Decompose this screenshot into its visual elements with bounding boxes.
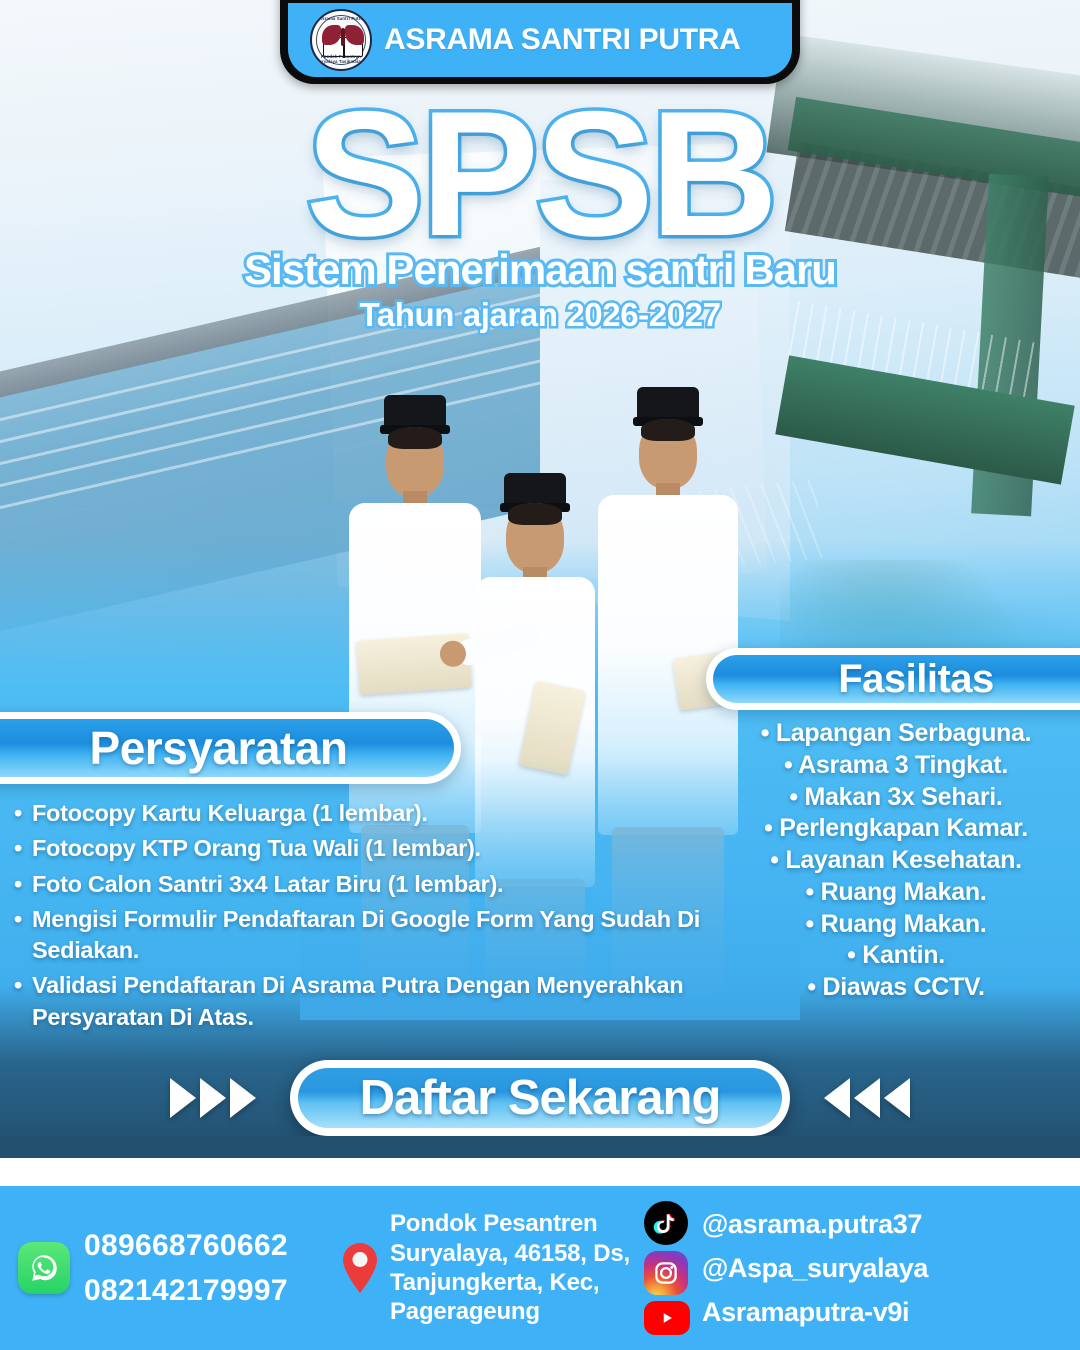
butterfly-body: [341, 28, 345, 46]
hero-subtitle: Sistem Penerimaan santri Baru: [0, 246, 1080, 294]
footer-bar: 089668760662 082142179997 Pondok Pesantr…: [0, 1186, 1080, 1350]
map-pin-icon: [340, 1242, 380, 1294]
footer-social-block: @asrama.putra37 @Aspa_suryalaya Asramapu…: [640, 1201, 1080, 1335]
address-text: Pondok Pesantren Suryalaya, 46158, Ds, T…: [390, 1209, 640, 1326]
phone-number-2[interactable]: 082142179997: [84, 1268, 288, 1313]
list-item: Mengisi Formulir Pendaftaran Di Google F…: [14, 904, 714, 967]
arrow-left-icon: [854, 1078, 880, 1118]
logo-bottom-text: Pondok Pesantren Suryalaya Tasikmalaya: [312, 54, 370, 64]
triple-arrow-left-icon: [824, 1078, 910, 1118]
list-item: Ruang Makan.: [722, 909, 1070, 941]
hero-academic-year: Tahun ajaran 2026-2027: [0, 296, 1080, 334]
requirements-banner-label: Persyaratan: [90, 721, 348, 775]
list-item: Diawas CCTV.: [722, 972, 1070, 1004]
youtube-handle[interactable]: Asramaputra-v9i: [702, 1290, 928, 1334]
requirements-item-text: Fotocopy Kartu Keluarga (1 lembar).: [31, 798, 714, 829]
footer-address-block: Pondok Pesantren Suryalaya, 46158, Ds, T…: [340, 1209, 640, 1326]
register-button[interactable]: Daftar Sekarang: [290, 1060, 790, 1136]
list-item: Makan 3x Sehari.: [722, 782, 1070, 814]
list-item: Fotocopy Kartu Keluarga (1 lembar).: [14, 798, 714, 829]
peci-cap-icon: [384, 395, 446, 429]
list-item: Asrama 3 Tingkat.: [722, 750, 1070, 782]
facilities-list: Lapangan Serbaguna. Asrama 3 Tingkat. Ma…: [722, 718, 1070, 1004]
header-badge: Asrama Santri Putra Pondok Pesantren Sur…: [280, 0, 800, 84]
youtube-icon[interactable]: [644, 1301, 690, 1335]
institution-logo-icon: Asrama Santri Putra Pondok Pesantren Sur…: [310, 9, 372, 71]
peci-cap-icon: [504, 473, 566, 507]
tiktok-handle[interactable]: @asrama.putra37: [702, 1202, 928, 1246]
requirements-banner: Persyaratan: [0, 712, 461, 784]
requirements-item-text: Validasi Pendaftaran Di Asrama Putra Den…: [31, 970, 714, 1033]
instagram-handle[interactable]: @Aspa_suryalaya: [702, 1246, 928, 1290]
triple-arrow-right-icon: [170, 1078, 256, 1118]
peci-cap-icon: [637, 387, 699, 421]
cta-section: Daftar Sekarang: [0, 1060, 1080, 1136]
instagram-icon[interactable]: [644, 1251, 688, 1295]
logo-butterfly-icon: [322, 25, 364, 47]
butterfly-wing-left: [322, 25, 341, 45]
hero-section: SPSB Sistem Penerimaan santri Baru Tahun…: [0, 92, 1080, 334]
facilities-banner: Fasilitas: [706, 648, 1080, 710]
phone-numbers: 089668760662 082142179997: [84, 1223, 288, 1313]
social-icon-column: [644, 1201, 690, 1335]
arrow-right-icon: [170, 1078, 196, 1118]
logo-top-text: Asrama Santri Putra: [312, 16, 370, 21]
arrow-left-icon: [824, 1078, 850, 1118]
list-item: Fotocopy KTP Orang Tua Wali (1 lembar).: [14, 833, 714, 864]
arrow-right-icon: [230, 1078, 256, 1118]
poster-root: Asrama Santri Putra Pondok Pesantren Sur…: [0, 0, 1080, 1350]
requirements-item-text: Foto Calon Santri 3x4 Latar Biru (1 lemb…: [31, 869, 714, 900]
phone-number-1[interactable]: 089668760662: [84, 1223, 288, 1268]
student-head: [506, 503, 564, 573]
list-item: Validasi Pendaftaran Di Asrama Putra Den…: [14, 970, 714, 1033]
register-button-label: Daftar Sekarang: [360, 1070, 721, 1126]
list-item: Ruang Makan.: [722, 877, 1070, 909]
list-item: Layanan Kesehatan.: [722, 845, 1070, 877]
requirements-list: Fotocopy Kartu Keluarga (1 lembar). Foto…: [14, 798, 714, 1037]
student-head: [639, 419, 697, 489]
register-button-fill: Daftar Sekarang: [298, 1068, 782, 1128]
navy-divider: [0, 1136, 1080, 1158]
facilities-banner-fill: Fasilitas: [713, 655, 1080, 703]
header-pill: Asrama Santri Putra Pondok Pesantren Sur…: [288, 3, 792, 77]
social-handles: @asrama.putra37 @Aspa_suryalaya Asramapu…: [702, 1202, 928, 1334]
list-item: Foto Calon Santri 3x4 Latar Biru (1 lemb…: [14, 869, 714, 900]
hero-title: SPSB: [0, 92, 1080, 256]
list-item: Lapangan Serbaguna.: [722, 718, 1070, 750]
header-title: ASRAMA SANTRI PUTRA: [384, 23, 741, 57]
footer-contact-block: 089668760662 082142179997: [0, 1223, 340, 1313]
list-item: Perlengkapan Kamar.: [722, 813, 1070, 845]
tiktok-icon[interactable]: [644, 1201, 688, 1245]
list-item: Kantin.: [722, 940, 1070, 972]
arrow-right-icon: [200, 1078, 226, 1118]
white-divider: [0, 1158, 1080, 1186]
requirements-banner-fill: Persyaratan: [0, 719, 454, 777]
student-head: [386, 427, 444, 497]
requirements-item-text: Mengisi Formulir Pendaftaran Di Google F…: [31, 904, 714, 967]
requirements-item-text: Fotocopy KTP Orang Tua Wali (1 lembar).: [31, 833, 714, 864]
whatsapp-icon[interactable]: [18, 1242, 70, 1294]
butterfly-wing-right: [345, 25, 364, 45]
arrow-left-icon: [884, 1078, 910, 1118]
facilities-banner-label: Fasilitas: [838, 657, 994, 702]
